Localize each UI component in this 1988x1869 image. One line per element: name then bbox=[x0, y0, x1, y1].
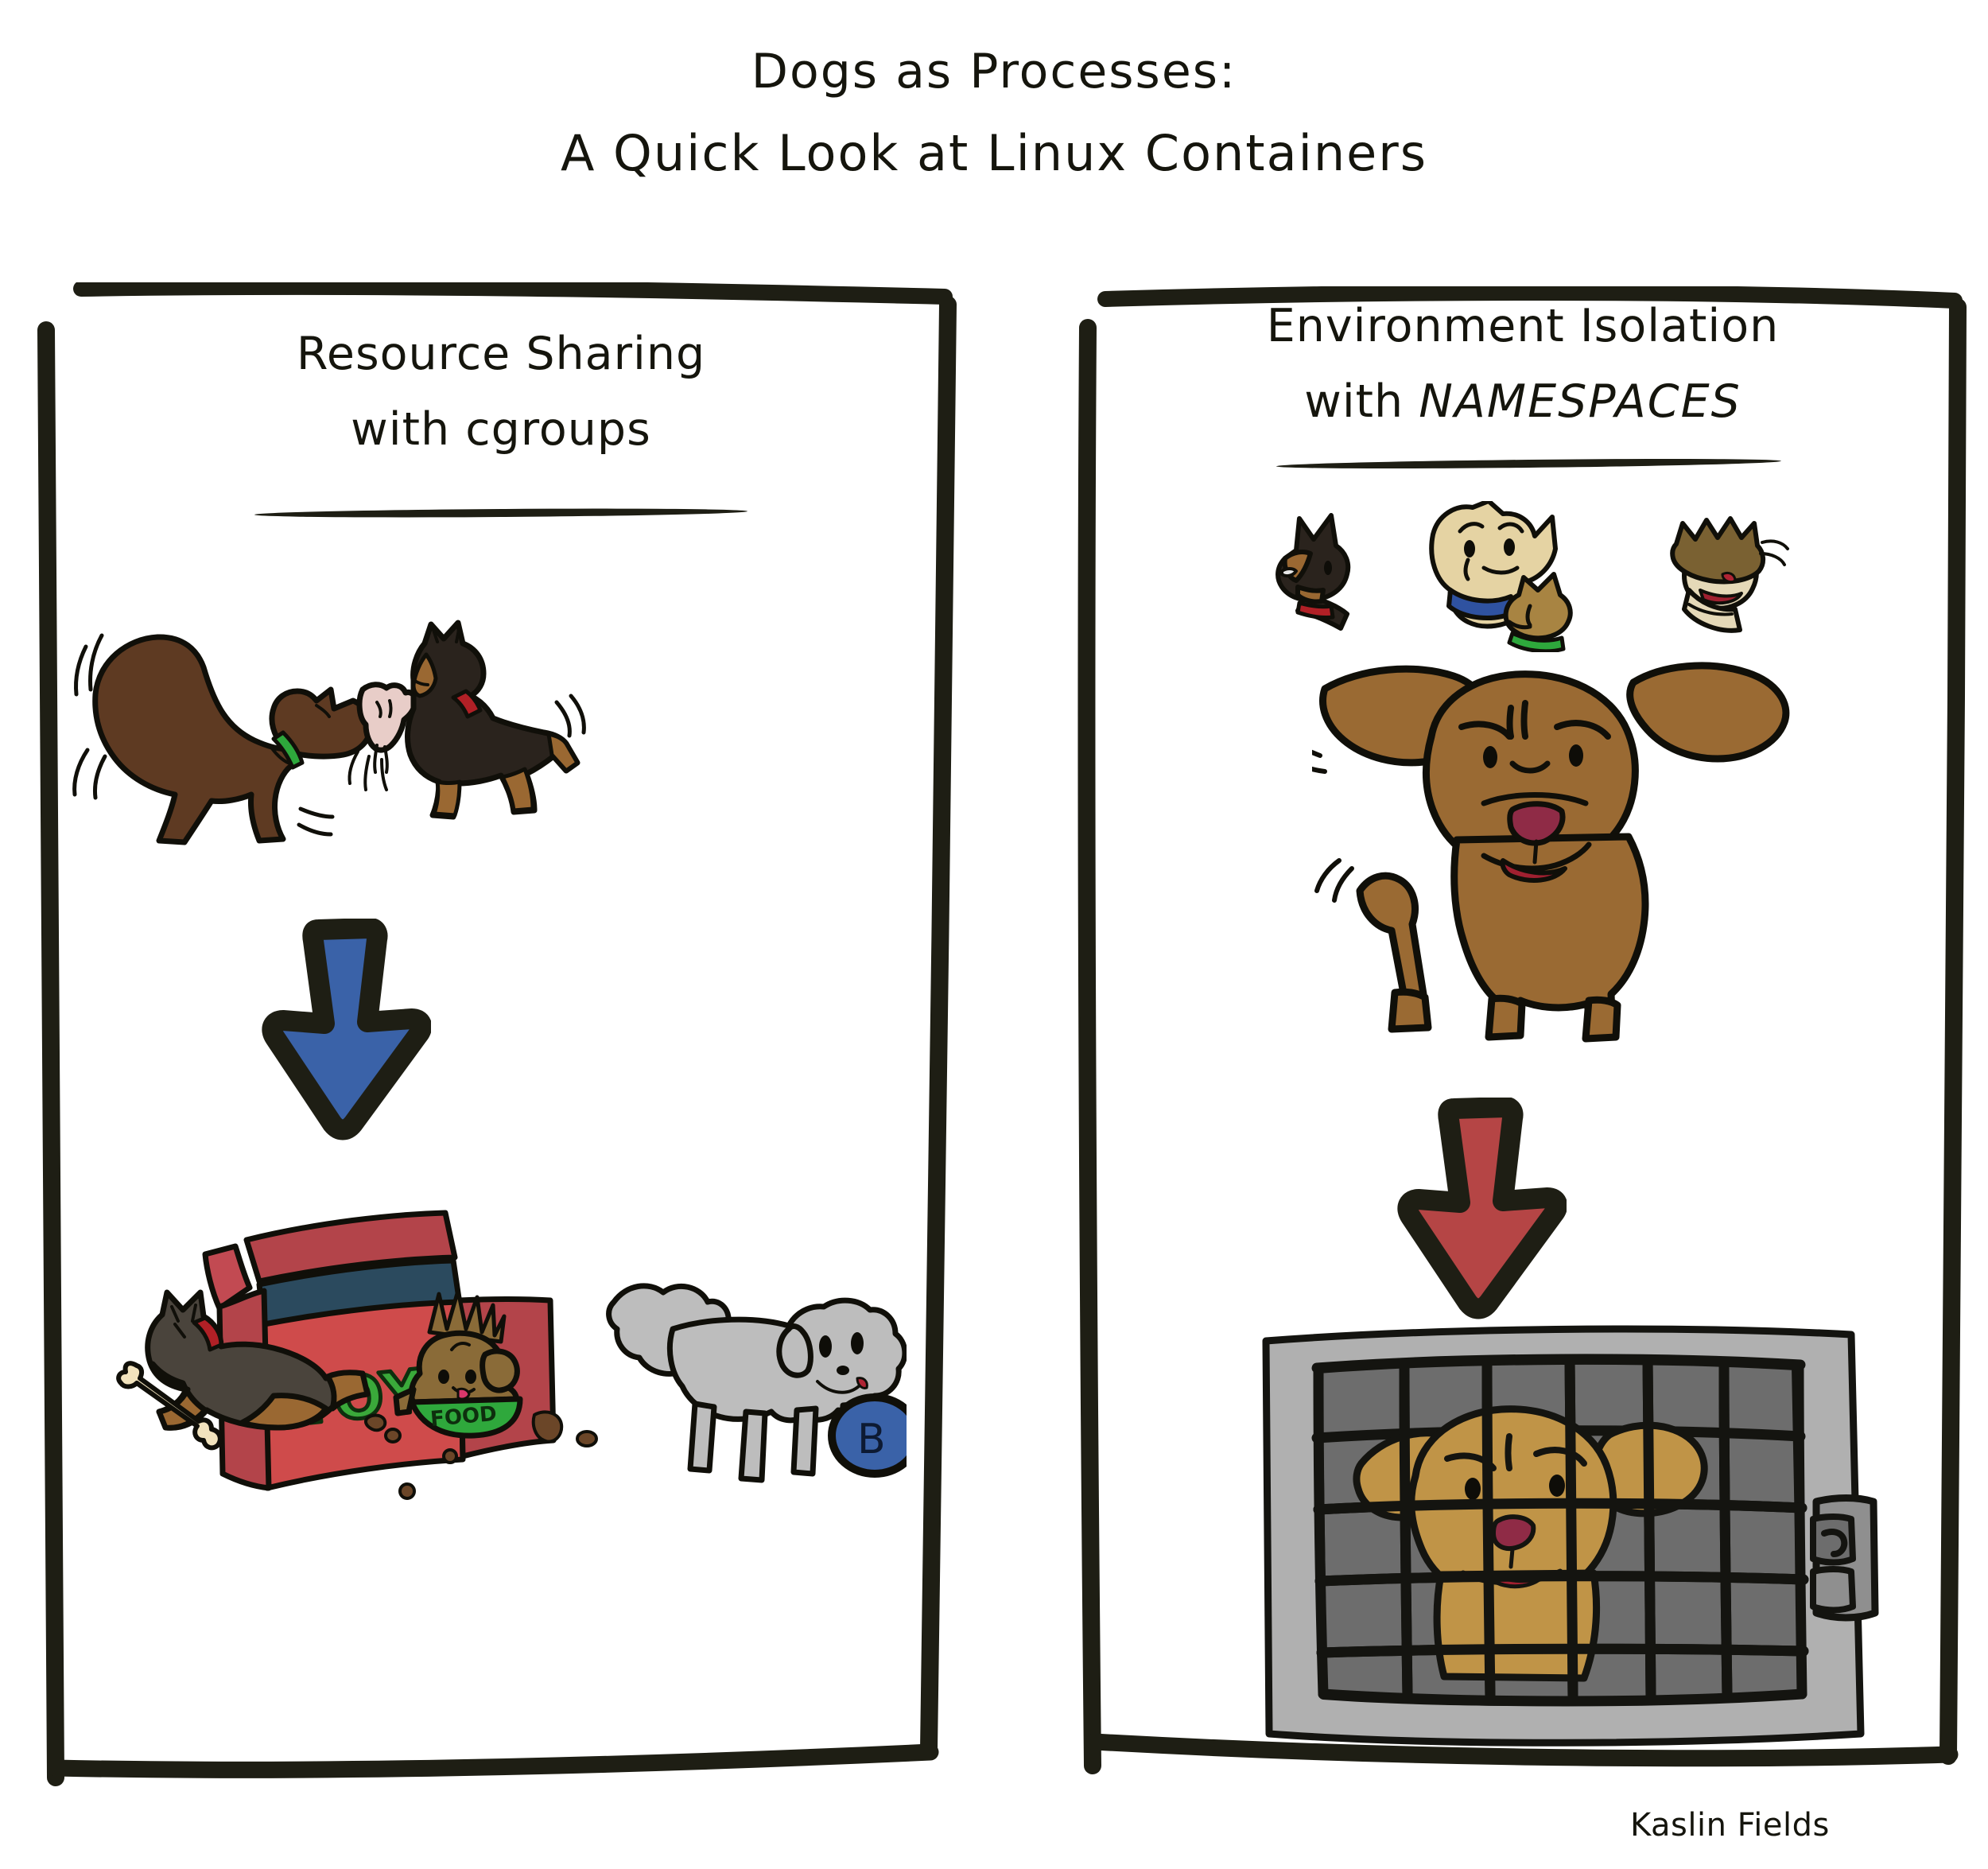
down-arrow-red bbox=[1392, 1098, 1567, 1328]
panel-right-title: Environment Isolation with NAMESPACES bbox=[1074, 304, 1972, 425]
panel-left-title-line2: with cgroups bbox=[32, 407, 970, 453]
two-dogs-tug-of-war bbox=[64, 600, 588, 855]
panel-left-title-prefix: with bbox=[351, 403, 465, 456]
panel-left-title: Resource Sharing with cgroups bbox=[32, 332, 970, 453]
panel-right-title-prefix: with bbox=[1304, 375, 1419, 428]
title-line-2: A Quick Look at Linux Containers bbox=[0, 129, 1988, 178]
dog-in-crate bbox=[1256, 1320, 1885, 1766]
page-title: Dogs as Processes: A Quick Look at Linux… bbox=[0, 48, 1988, 178]
dogs-with-own-resources: TOYS bbox=[80, 1173, 907, 1666]
panel-left-title-line1: Resource Sharing bbox=[32, 332, 970, 377]
panel-right-title-underline bbox=[1276, 457, 1781, 471]
artist-signature: Kaslin Fields bbox=[1630, 1807, 1830, 1844]
blue-ball-label: B bbox=[857, 1416, 886, 1463]
doberman-head bbox=[1278, 515, 1348, 628]
panel-right-title-emphasis: NAMESPACES bbox=[1419, 375, 1741, 428]
panel-right-title-line1: Environment Isolation bbox=[1074, 304, 1972, 349]
other-dog-heads-row bbox=[1264, 501, 1805, 652]
panel-resource-sharing: Resource Sharing with cgroups bbox=[32, 282, 970, 1797]
crate-latch bbox=[1813, 1498, 1875, 1618]
big-angry-dog bbox=[1312, 660, 1805, 1058]
shaggy-dog-head bbox=[1672, 519, 1788, 631]
panel-left-title-underline bbox=[254, 507, 747, 519]
down-arrow-blue bbox=[256, 919, 431, 1149]
panel-left-title-emphasis: cgroups bbox=[465, 403, 651, 456]
panel-right-title-line2: with NAMESPACES bbox=[1074, 379, 1972, 425]
panel-environment-isolation: Environment Isolation with NAMESPACES bbox=[1074, 286, 1972, 1782]
blue-ball: B bbox=[832, 1397, 907, 1474]
title-line-1: Dogs as Processes: bbox=[0, 48, 1988, 95]
